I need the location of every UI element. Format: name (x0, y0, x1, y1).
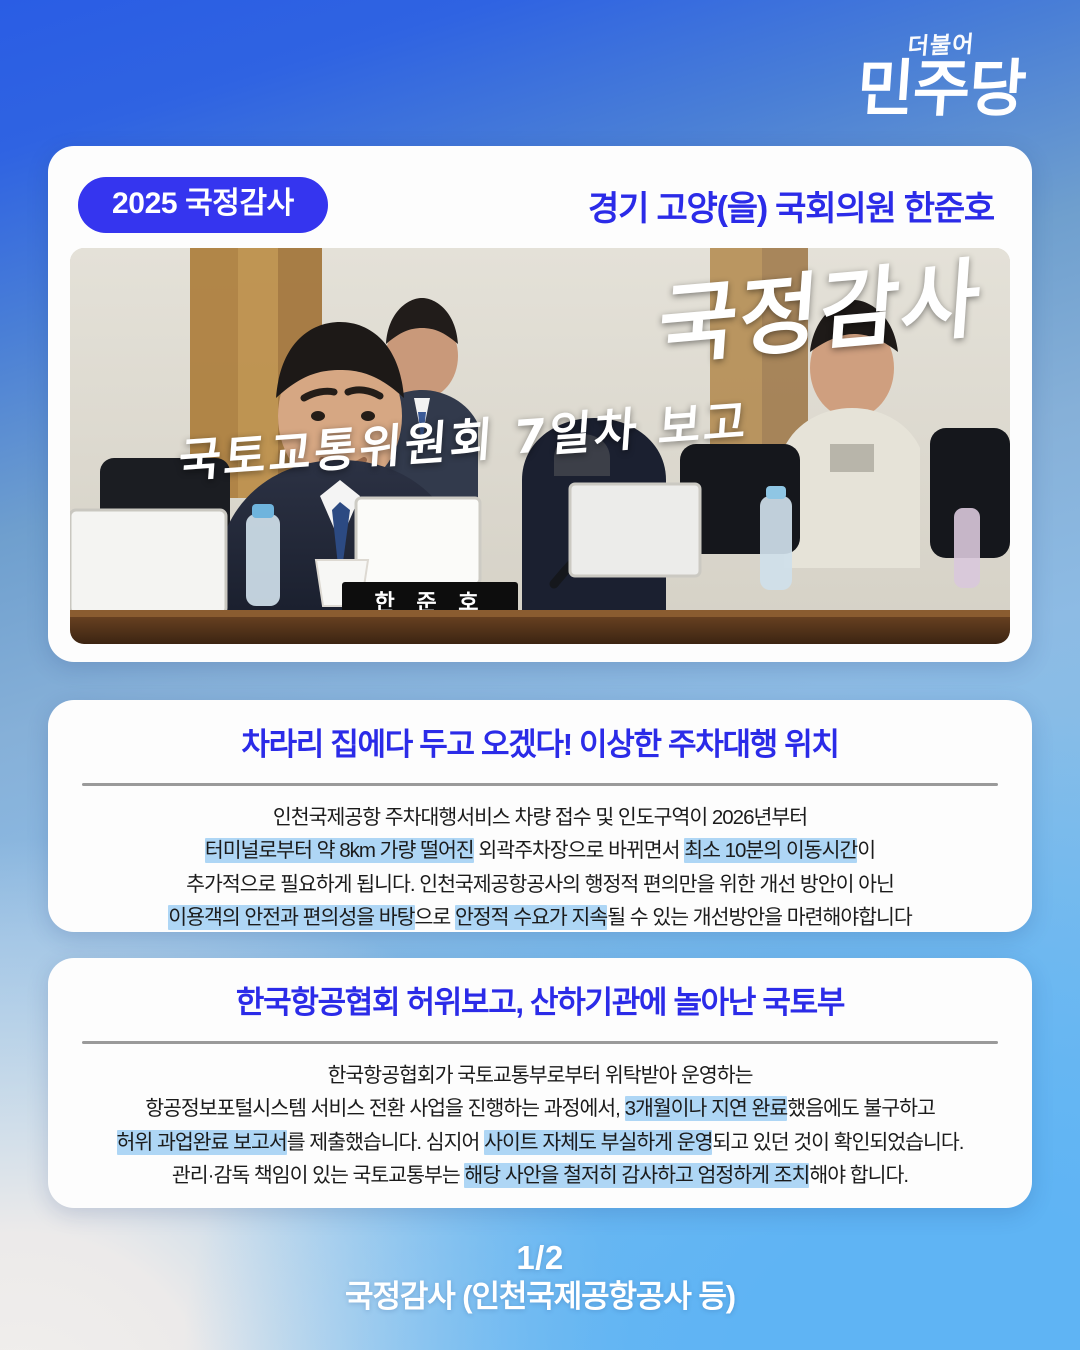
body-text-run: 외곽주차장으로 바뀌면서 (474, 839, 685, 862)
body-line: 추가적으로 필요하게 됩니다. 인천국제공항공사의 행정적 편의만을 위한 개선… (82, 868, 998, 901)
body-text-run: 되고 있던 것이 확인되었습니다. (712, 1131, 963, 1154)
highlighted-phrase: 허위 과업완료 보고서 (117, 1130, 287, 1155)
body-text-run: 한국항공협회가 국토교통부로부터 위탁받아 운영하는 (328, 1064, 753, 1087)
highlighted-phrase: 이용객의 안전과 편의성을 바탕 (168, 905, 414, 930)
body-text-run: 해야 합니다. (809, 1164, 908, 1187)
body-text-run: 으로 (415, 906, 455, 929)
body-line: 관리·감독 책임이 있는 국토교통부는 해당 사안을 철저히 감사하고 엄정하게… (82, 1159, 998, 1192)
hero-header: 2025 국정감사 경기 고양(을) 국회의원 한준호 (70, 168, 1010, 242)
highlighted-phrase: 3개월이나 지연 완료 (625, 1096, 788, 1121)
body-text-run: 를 제출했습니다. 심지어 (287, 1131, 484, 1154)
body-text-run: 항공정보포털시스템 서비스 전환 사업을 진행하는 과정에서, (145, 1097, 624, 1120)
body-text-run: 될 수 있는 개선방안을 마련해야합니다 (607, 906, 912, 929)
footer-caption: 국정감사 (인천국제공항공사 등) (0, 1278, 1080, 1316)
body-text-run: 이 (857, 839, 875, 862)
title-divider (82, 783, 998, 786)
issue-card-aviation: 한국항공협회 허위보고, 산하기관에 놀아난 국토부 한국항공협회가 국토교통부… (48, 958, 1032, 1208)
highlighted-phrase: 사이트 자체도 부실하게 운영 (484, 1130, 712, 1155)
body-line: 인천국제공항 주차대행서비스 차량 접수 및 인도구역이 2026년부터 (82, 801, 998, 834)
party-logo: 더불어 민주당 (848, 34, 1034, 121)
page-indicator: 1/2 (0, 1238, 1080, 1278)
party-logo-main: 민주당 (846, 59, 1036, 121)
body-line: 허위 과업완료 보고서를 제출했습니다. 심지어 사이트 자체도 부실하게 운영… (82, 1126, 998, 1159)
water-bottle-left (246, 504, 280, 606)
highlighted-phrase: 안정적 수요가 지속 (455, 905, 607, 930)
body-text-run: 했음에도 불구하고 (787, 1097, 935, 1120)
water-bottle-right (760, 486, 792, 590)
hearing-photo-illustration: 한 준 호 (70, 248, 1010, 644)
body-text-run: 추가적으로 필요하게 됩니다. 인천국제공항공사의 행정적 편의만을 위한 개선… (186, 873, 894, 896)
highlighted-phrase: 해당 사안을 철저히 감사하고 엄정하게 조치 (464, 1163, 809, 1188)
footer: 1/2 국정감사 (인천국제공항공사 등) (0, 1238, 1080, 1316)
card-body: 인천국제공항 주차대행서비스 차량 접수 및 인도구역이 2026년부터터미널로… (82, 801, 998, 934)
body-text-run: 관리·감독 책임이 있는 국토교통부는 (172, 1164, 465, 1187)
body-line: 터미널로부터 약 8km 가량 떨어진 외곽주차장으로 바뀌면서 최소 10분의… (82, 834, 998, 867)
issue-card-parking: 차라리 집에다 두고 오겠다! 이상한 주차대행 위치 인천국제공항 주차대행서… (48, 700, 1032, 932)
hero-card: 2025 국정감사 경기 고양(을) 국회의원 한준호 (48, 146, 1032, 662)
card-title: 차라리 집에다 두고 오겠다! 이상한 주차대행 위치 (82, 726, 998, 763)
body-line: 한국항공협회가 국토교통부로부터 위탁받아 운영하는 (82, 1059, 998, 1092)
hearing-photo: 한 준 호 국정감사 국토교통위원회 7일차 보고 (70, 248, 1010, 644)
card-title: 한국항공협회 허위보고, 산하기관에 놀아난 국토부 (82, 984, 998, 1021)
campaign-badge: 2025 국정감사 (78, 177, 328, 233)
title-divider (82, 1041, 998, 1044)
card-body: 한국항공협회가 국토교통부로부터 위탁받아 운영하는항공정보포털시스템 서비스 … (82, 1059, 998, 1192)
legislator-title: 경기 고양(을) 국회의원 한준호 (588, 181, 1000, 230)
body-line: 이용객의 안전과 편의성을 바탕으로 안정적 수요가 지속될 수 있는 개선방안… (82, 901, 998, 934)
body-text-run: 인천국제공항 주차대행서비스 차량 접수 및 인도구역이 2026년부터 (273, 806, 807, 829)
body-line: 항공정보포털시스템 서비스 전환 사업을 진행하는 과정에서, 3개월이나 지연… (82, 1092, 998, 1125)
highlighted-phrase: 최소 10분의 이동시간 (684, 838, 857, 863)
highlighted-phrase: 터미널로부터 약 8km 가량 떨어진 (205, 838, 474, 863)
